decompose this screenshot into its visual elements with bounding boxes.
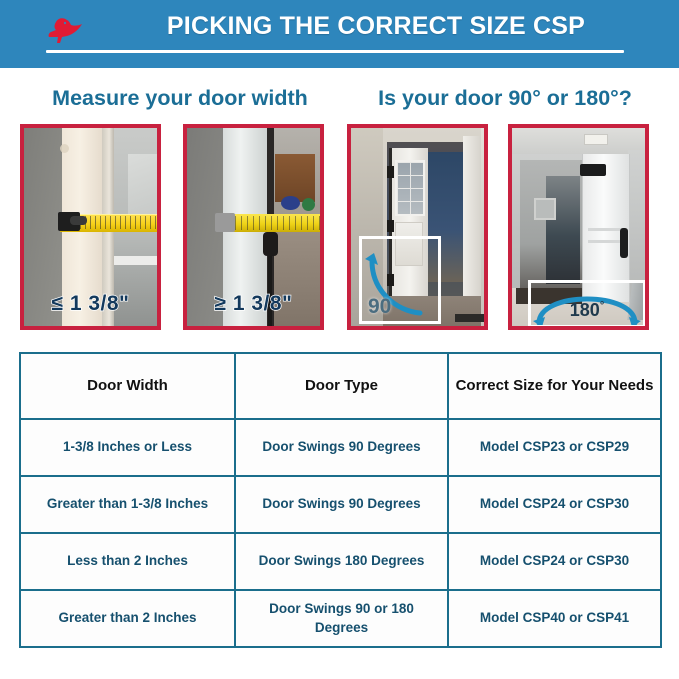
degree-symbol-icon: ° [600, 300, 604, 312]
tape-measure-clip [70, 216, 87, 225]
cell-correct-size: Model CSP40 or CSP41 [448, 590, 661, 647]
cell-door-width: Greater than 2 Inches [20, 590, 235, 647]
cell-correct-size: Model CSP23 or CSP29 [448, 419, 661, 476]
cell-door-width: Less than 2 Inches [20, 533, 235, 590]
door-panel-line-lower [588, 240, 622, 243]
right-wall [628, 150, 645, 300]
threshold [455, 314, 484, 322]
far-doorway [546, 176, 580, 284]
photo-door-swing-180: 180° [508, 124, 649, 330]
table-header: Door Width Door Type Correct Size for Yo… [20, 353, 661, 419]
page-header: PICKING THE CORRECT SIZE CSP [0, 0, 679, 68]
angle-callout-box-180: 180° [528, 280, 645, 326]
wall-frame [534, 198, 556, 220]
ceiling-light-icon [584, 134, 608, 145]
photo-2-content: ≥ 1 3/8" [187, 128, 320, 326]
angle-label-90: 90 [368, 295, 391, 319]
table-row: 1-3/8 Inches or Less Door Swings 90 Degr… [20, 419, 661, 476]
cell-door-type: Door Swings 90 or 180 Degrees [235, 590, 448, 647]
door-handle-icon [620, 228, 628, 258]
cell-door-type: Door Swings 90 Degrees [235, 476, 448, 533]
section-heading-door-angle: Is your door 90° or 180°? [345, 86, 665, 111]
green-object [302, 198, 315, 211]
size-selection-table: Door Width Door Type Correct Size for Yo… [19, 352, 662, 648]
cell-door-type: Door Swings 90 Degrees [235, 419, 448, 476]
measurement-badge-narrow: ≤ 1 3/8" [24, 292, 157, 316]
cell-door-type: Door Swings 180 Degrees [235, 533, 448, 590]
photo-door-width-wide: ≥ 1 3/8" [183, 124, 324, 330]
table-row: Less than 2 Inches Door Swings 180 Degre… [20, 533, 661, 590]
cell-door-width: Greater than 1-3/8 Inches [20, 476, 235, 533]
page-title: PICKING THE CORRECT SIZE CSP [96, 12, 656, 41]
table-row: Greater than 2 Inches Door Swings 90 or … [20, 590, 661, 647]
cell-correct-size: Model CSP24 or CSP30 [448, 476, 661, 533]
wood-wall [275, 154, 315, 202]
column-header-correct-size: Correct Size for Your Needs [448, 353, 661, 419]
angle-label-180-number: 180 [570, 300, 600, 320]
door-hinge-middle-icon [387, 220, 394, 232]
tape-measure-hook [215, 213, 235, 232]
photo-row: ≤ 1 3/8" ≥ 1 3/8" [0, 124, 679, 332]
title-underline [46, 50, 624, 53]
table-row: Greater than 1-3/8 Inches Door Swings 90… [20, 476, 661, 533]
cell-door-width: 1-3/8 Inches or Less [20, 419, 235, 476]
door-hinge-top-icon [387, 166, 394, 178]
section-heading-measure-width: Measure your door width [20, 86, 340, 111]
angle-callout-box-90: 90 [359, 236, 441, 324]
door-panel-line-upper [588, 228, 622, 231]
angle-label-180: 180° [531, 300, 643, 321]
ceiling [512, 128, 645, 154]
door-closer-icon [580, 164, 606, 176]
photo-4-content: 180° [512, 128, 645, 326]
right-wall [481, 128, 484, 326]
column-header-door-width: Door Width [20, 353, 235, 419]
photo-1-content: ≤ 1 3/8" [24, 128, 157, 326]
cardinal-bird-icon [45, 14, 85, 46]
table-body: 1-3/8 Inches or Less Door Swings 90 Degr… [20, 419, 661, 647]
column-header-door-type: Door Type [235, 353, 448, 419]
photo-3-content: 90 [351, 128, 484, 326]
photo-door-swing-90: 90 [347, 124, 488, 330]
photo-door-width-narrow: ≤ 1 3/8" [20, 124, 161, 330]
exercise-ball [281, 196, 300, 210]
door-hardware-icon [60, 144, 69, 153]
door-jamb [463, 136, 481, 320]
door-stopper [263, 232, 278, 256]
measurement-badge-wide: ≥ 1 3/8" [187, 292, 320, 316]
table-header-row: Door Width Door Type Correct Size for Yo… [20, 353, 661, 419]
baseboard [114, 256, 157, 265]
cell-correct-size: Model CSP24 or CSP30 [448, 533, 661, 590]
door-glass-panes [395, 160, 425, 216]
header-inner: PICKING THE CORRECT SIZE CSP [0, 0, 679, 68]
